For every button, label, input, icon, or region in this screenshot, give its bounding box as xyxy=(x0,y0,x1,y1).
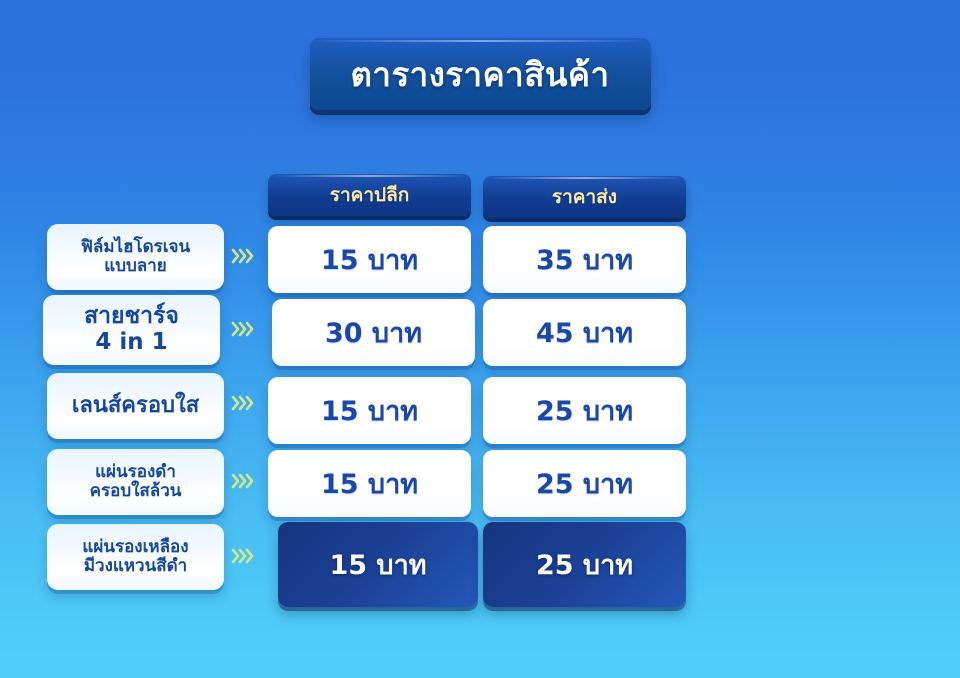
retail-price-cell[interactable]: 30 บาท xyxy=(272,299,475,366)
wholesale-price-value: 25 บาท xyxy=(536,389,633,432)
page-title: ตารางราคาสินค้า xyxy=(351,48,610,101)
chevron-right-icon xyxy=(230,392,256,414)
wholesale-price-value: 25 บาท xyxy=(536,462,633,505)
column-header-wholesale: ราคาส่ง xyxy=(483,176,686,218)
column-header-retail-label: ราคาปลีก xyxy=(330,180,409,210)
retail-price-value: 15 บาท xyxy=(321,462,418,505)
column-header-retail: ราคาปลีก xyxy=(268,174,471,216)
wholesale-price-cell[interactable]: 45 บาท xyxy=(483,299,686,366)
wholesale-price-cell[interactable]: 35 บาท xyxy=(483,226,686,293)
product-label-pill[interactable]: สายชาร์จ 4 in 1 xyxy=(43,295,220,365)
retail-price-cell[interactable]: 15 บาท xyxy=(268,377,471,444)
chevron-right-icon xyxy=(230,545,256,567)
wholesale-price-cell[interactable]: 25 บาท xyxy=(483,377,686,444)
product-label-text: เลนส์ครอบใส xyxy=(72,394,199,419)
retail-price-cell[interactable]: 15 บาท xyxy=(268,450,471,517)
retail-price-value: 15 บาท xyxy=(329,543,426,586)
retail-price-value: 15 บาท xyxy=(321,238,418,281)
wholesale-price-cell[interactable]: 25 บาท xyxy=(483,522,686,607)
product-label-pill[interactable]: ฟิล์มไฮโดรเจน แบบลาย xyxy=(47,224,224,290)
wholesale-price-cell[interactable]: 25 บาท xyxy=(483,450,686,517)
retail-price-value: 30 บาท xyxy=(325,311,422,354)
retail-price-cell[interactable]: 15 บาท xyxy=(278,522,478,607)
wholesale-price-value: 45 บาท xyxy=(536,311,633,354)
page-title-bar: ตารางราคาสินค้า xyxy=(0,38,960,110)
product-label-text: สายชาร์จ 4 in 1 xyxy=(84,304,179,356)
title-plate: ตารางราคาสินค้า xyxy=(310,38,651,110)
product-label-text: แผ่นรองดำ ครอบใสล้วน xyxy=(90,463,182,501)
retail-price-value: 15 บาท xyxy=(321,389,418,432)
retail-price-cell[interactable]: 15 บาท xyxy=(268,226,471,293)
wholesale-price-value: 25 บาท xyxy=(536,543,633,586)
product-label-text: ฟิล์มไฮโดรเจน แบบลาย xyxy=(81,238,190,276)
product-label-pill[interactable]: แผ่นรองเหลือง มีวงแหวนสีดำ xyxy=(47,524,224,590)
product-label-pill[interactable]: แผ่นรองดำ ครอบใสล้วน xyxy=(47,449,224,515)
chevron-right-icon xyxy=(230,318,256,340)
chevron-right-icon xyxy=(230,470,256,492)
product-label-pill[interactable]: เลนส์ครอบใส xyxy=(47,373,224,439)
chevron-right-icon xyxy=(230,245,256,267)
product-label-text: แผ่นรองเหลือง มีวงแหวนสีดำ xyxy=(82,538,188,576)
wholesale-price-value: 35 บาท xyxy=(536,238,633,281)
column-header-wholesale-label: ราคาส่ง xyxy=(552,182,617,212)
